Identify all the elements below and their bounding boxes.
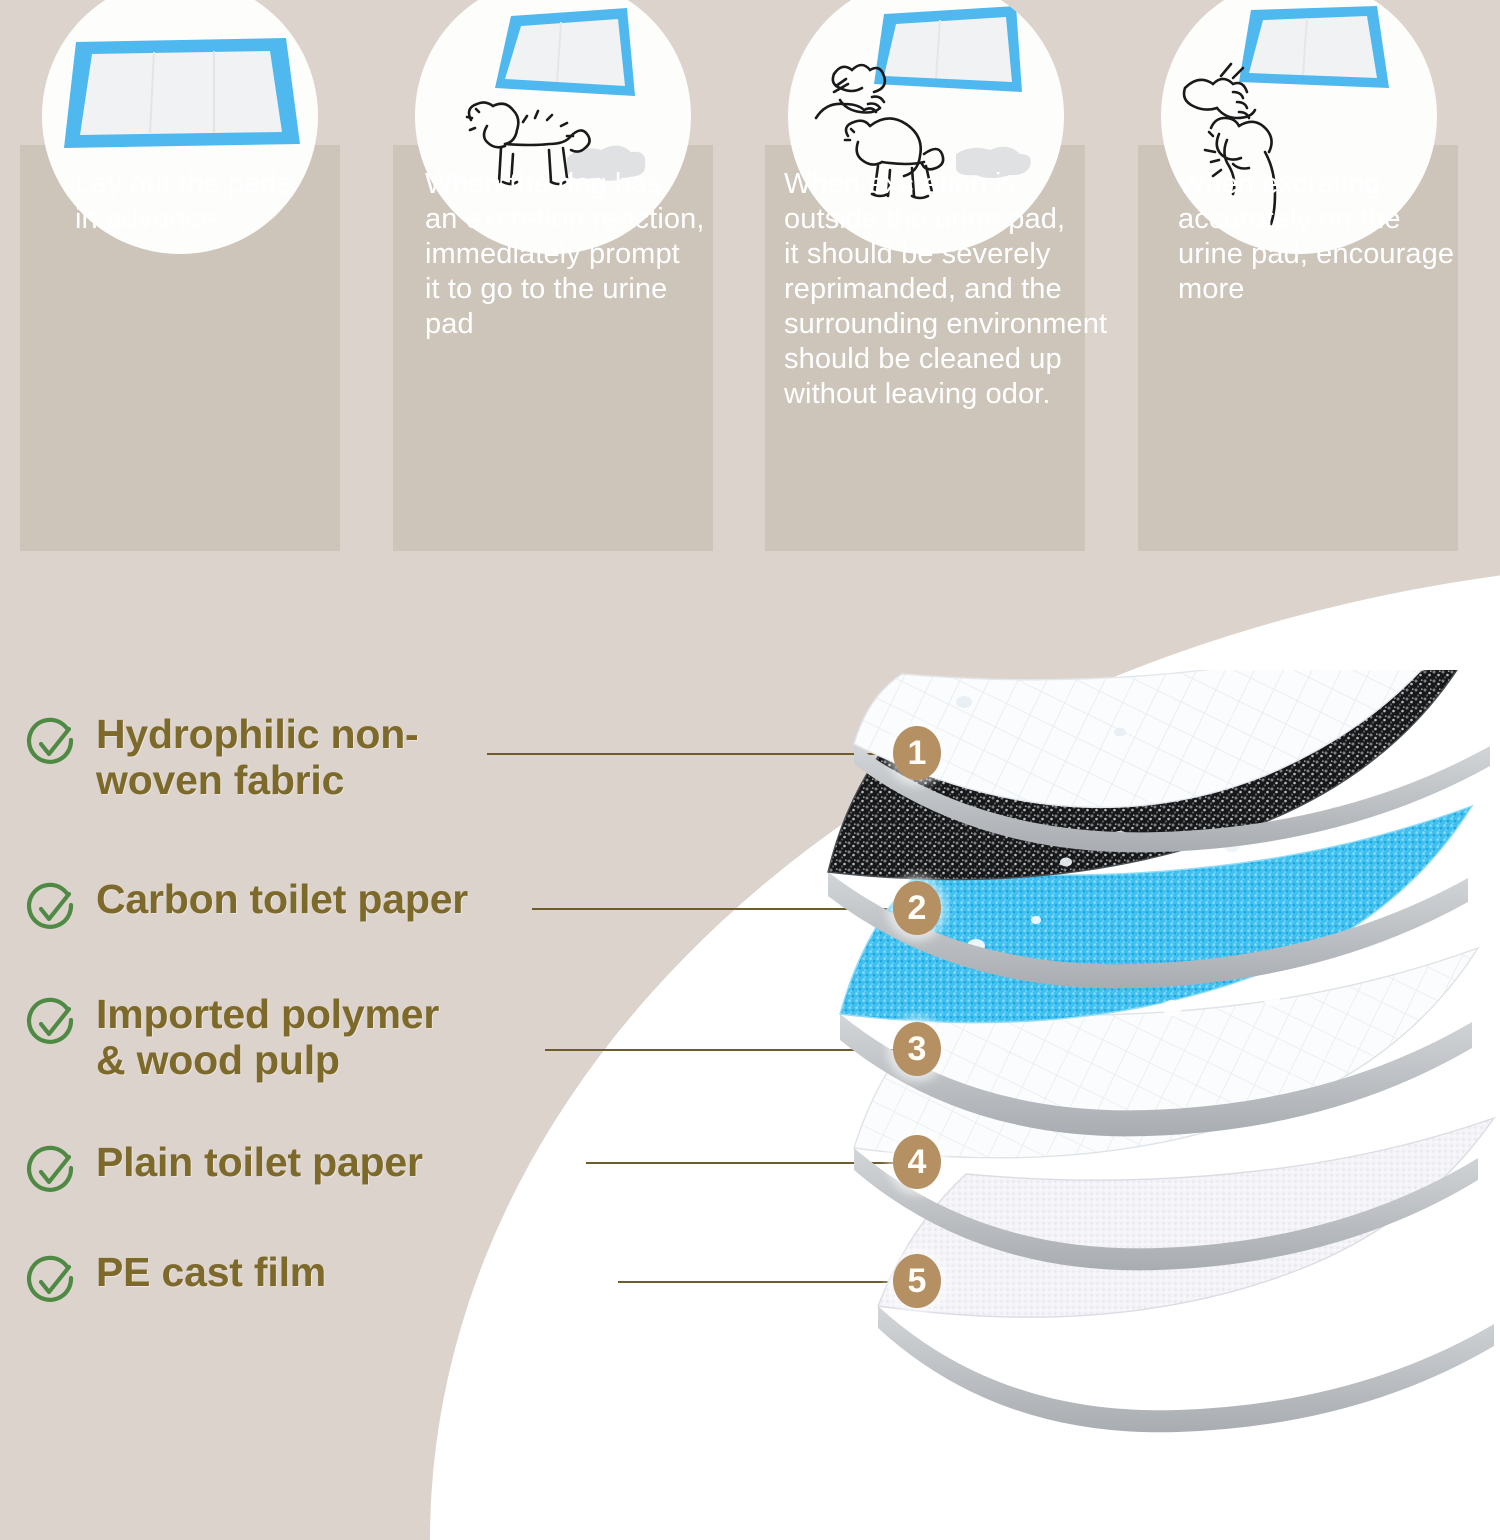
check-circle-icon (24, 716, 80, 772)
feature-row-3: Imported polymer & wood pulp (24, 992, 439, 1084)
step-text-3: When excretion is outside the urine pad,… (784, 167, 1114, 413)
feature-label-1: Hydrophilic non- woven fabric (96, 712, 419, 804)
feature-row-4: Plain toilet paper (24, 1140, 423, 1200)
layer-badge-1: 1 (893, 726, 941, 780)
feature-label-5: PE cast film (96, 1250, 326, 1296)
feature-label-3: Imported polymer & wood pulp (96, 992, 439, 1084)
check-circle-icon (24, 881, 80, 937)
layer-badge-3: 3 (893, 1022, 941, 1076)
instruction-steps-section: Lay out the pads in advance When the dog… (0, 0, 1500, 560)
layer-badge-2: 2 (893, 881, 941, 935)
check-circle-icon (24, 1144, 80, 1200)
feature-label-2: Carbon toilet paper (96, 877, 468, 923)
layer-5-pe-cast-film (878, 1118, 1494, 1432)
feature-row-1: Hydrophilic non- woven fabric (24, 712, 419, 804)
layer-badge-4: 4 (893, 1135, 941, 1189)
feature-row-5: PE cast film (24, 1250, 326, 1310)
layer-badge-5: 5 (893, 1254, 941, 1308)
step-text-1: Lay out the pads in advance (75, 167, 365, 237)
check-circle-icon (24, 1254, 80, 1310)
feature-label-4: Plain toilet paper (96, 1140, 423, 1186)
pad-layer-stack-illustration (820, 670, 1500, 1500)
step-text-4: When excreting accurately on the urine p… (1178, 167, 1478, 307)
check-circle-icon (24, 996, 80, 1052)
step-text-2: When the dog has an excretion reaction, … (425, 167, 725, 342)
feature-row-2: Carbon toilet paper (24, 877, 468, 937)
